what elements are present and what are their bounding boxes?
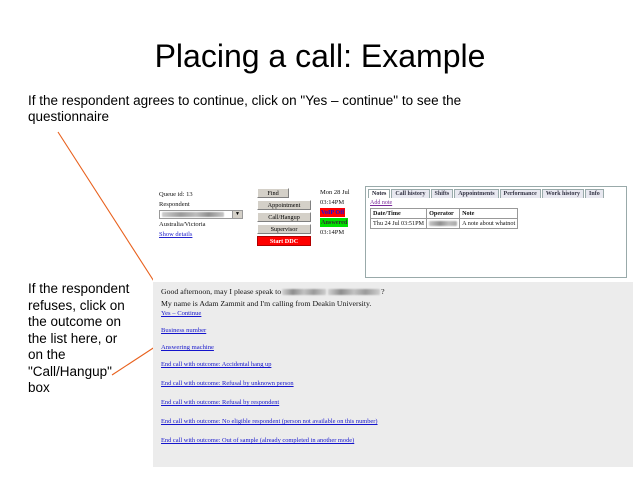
- dialogue-line-2: My name is Adam Zammit and I'm calling f…: [161, 298, 621, 310]
- start-ddc-button[interactable]: Start DDC: [257, 236, 311, 246]
- annotation-top: If the respondent agrees to continue, cl…: [28, 93, 478, 125]
- action-button-column: Find Appointment Call/Hangup Supervisor …: [257, 188, 315, 248]
- call-info-block: Queue id: 13 Respondent ▼ Australia/Vict…: [159, 190, 249, 239]
- link-outcome-out-of-sample[interactable]: End call with outcome: Out of sample (al…: [161, 437, 581, 444]
- slide-canvas: Placing a call: Example If the responden…: [0, 0, 640, 480]
- tab-call-history[interactable]: Call history: [391, 189, 429, 198]
- outcome-link-group: End call with outcome: Accidental hang u…: [161, 361, 581, 444]
- app-header-area: Queue id: 13 Respondent ▼ Australia/Vict…: [153, 182, 633, 282]
- notes-table: Date/Time Operator Note Thu 24 Jul 03:51…: [370, 208, 518, 229]
- call-script-dialogue: Good afternoon, may I please speak to? M…: [161, 286, 621, 309]
- respondent-name-redacted: [162, 212, 224, 217]
- call-hangup-button[interactable]: Call/Hangup: [257, 212, 311, 222]
- tab-bar: Notes Call history Shifts Appointments P…: [366, 187, 626, 198]
- appointment-button[interactable]: Appointment: [257, 200, 311, 210]
- supervisor-button[interactable]: Supervisor: [257, 224, 311, 234]
- table-row[interactable]: Thu 24 Jul 03:51PM A note about whatnot: [371, 219, 518, 229]
- voip-status-badge[interactable]: VoIP Off: [320, 208, 345, 217]
- answered-status-badge: Answered: [320, 218, 348, 227]
- tab-work-history[interactable]: Work history: [542, 189, 584, 198]
- column-header-datetime: Date/Time: [371, 209, 427, 219]
- respondent-label: Respondent: [159, 200, 249, 210]
- queue-id-label: Queue id: 13: [159, 190, 249, 200]
- page-title: Placing a call: Example: [0, 38, 640, 75]
- chevron-down-icon[interactable]: ▼: [232, 211, 242, 218]
- link-outcome-accidental-hang-up[interactable]: End call with outcome: Accidental hang u…: [161, 361, 581, 368]
- annotation-left: If the respondent refuses, click on the …: [28, 281, 136, 397]
- find-button[interactable]: Find: [257, 188, 289, 198]
- tab-info[interactable]: Info: [585, 189, 604, 198]
- outcome-link-list: Yes – Continue Business number Answering…: [161, 310, 581, 456]
- primary-link-group: Yes – Continue Business number Answering…: [161, 310, 581, 351]
- link-outcome-no-eligible-respondent[interactable]: End call with outcome: No eligible respo…: [161, 418, 581, 425]
- table-header-row: Date/Time Operator Note: [371, 209, 518, 219]
- details-tab-panel: Notes Call history Shifts Appointments P…: [365, 186, 627, 278]
- respondent-name-redacted-inline: [282, 289, 326, 295]
- link-outcome-refusal-respondent[interactable]: End call with outcome: Refusal by respon…: [161, 399, 581, 406]
- add-note-link[interactable]: Add note: [370, 200, 626, 206]
- operator-name-redacted: [429, 221, 457, 226]
- cell-operator: [427, 219, 460, 229]
- tab-notes[interactable]: Notes: [368, 189, 390, 198]
- column-header-note: Note: [460, 209, 518, 219]
- cell-note: A note about whatnot: [460, 219, 518, 229]
- tab-appointments[interactable]: Appointments: [454, 189, 498, 198]
- show-details-link[interactable]: Show details: [159, 230, 249, 240]
- link-outcome-refusal-unknown-person[interactable]: End call with outcome: Refusal by unknow…: [161, 380, 581, 387]
- embedded-app-screenshot: Queue id: 13 Respondent ▼ Australia/Vict…: [153, 182, 633, 467]
- tab-performance[interactable]: Performance: [500, 189, 541, 198]
- dialogue-line-1: Good afternoon, may I please speak to?: [161, 286, 621, 298]
- column-header-operator: Operator: [427, 209, 460, 219]
- link-answering-machine[interactable]: Answering machine: [161, 344, 581, 351]
- tab-shifts[interactable]: Shifts: [431, 189, 454, 198]
- respondent-select[interactable]: ▼: [159, 210, 243, 219]
- dialogue-line-1-before: Good afternoon, may I please speak to: [161, 287, 281, 296]
- respondent-surname-redacted-inline: [328, 289, 380, 295]
- link-business-number[interactable]: Business number: [161, 327, 581, 334]
- cell-datetime: Thu 24 Jul 03:51PM: [371, 219, 427, 229]
- dialogue-line-1-after: ?: [381, 287, 384, 296]
- link-yes-continue[interactable]: Yes – Continue: [161, 310, 581, 317]
- timezone-label: Australia/Victoria: [159, 220, 249, 230]
- arrow-to-yes-continue: [58, 132, 166, 300]
